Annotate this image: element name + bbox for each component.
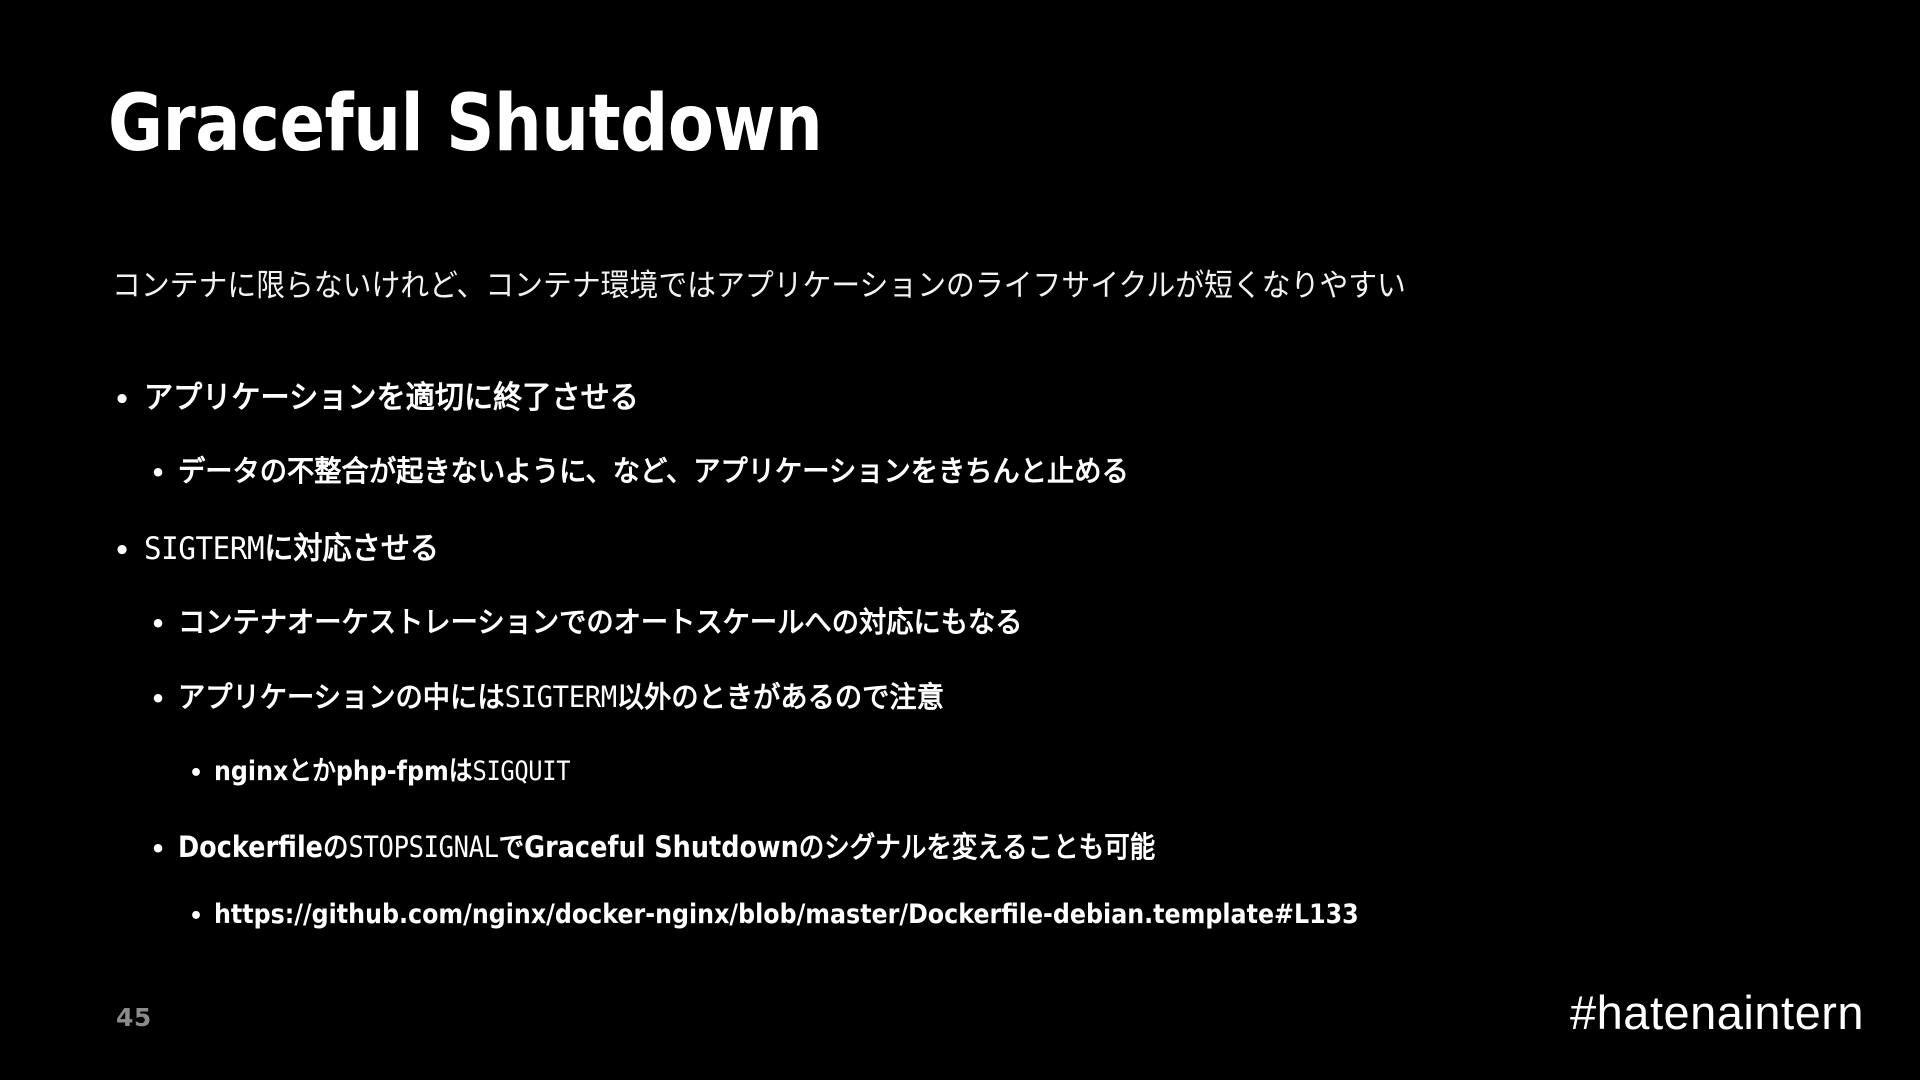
text-span: https://github.com/nginx/docker-nginx/bl…: [214, 899, 1359, 930]
text-span: に対応させる: [264, 531, 439, 567]
text-span: Dockerfileの: [178, 830, 349, 864]
slide: Graceful Shutdown コンテナに限らないけれど、コンテナ環境ではア…: [0, 0, 1920, 1080]
text-span: アプリケーションを適切に終了させる: [144, 380, 639, 416]
bullet-marker-icon: •: [100, 536, 144, 566]
bullet-text: https://github.com/nginx/docker-nginx/bl…: [214, 899, 1359, 930]
bullet-text: コンテナオーケストレーションでのオートスケールへの対応にもなる: [178, 599, 1023, 641]
bullet-item: •nginxとかphp-fpmはSIGQUIT: [0, 749, 1920, 824]
bullet-list: •アプリケーションを適切に終了させる•データの不整合が起きないように、など、アプ…: [0, 372, 1920, 974]
bullet-text: アプリケーションを適切に終了させる: [144, 372, 639, 417]
page-number: 45: [116, 1003, 152, 1032]
bullet-item: •https://github.com/nginx/docker-nginx/b…: [0, 899, 1920, 974]
text-span: 以外のときがあるので注意: [617, 680, 944, 714]
bullet-text: アプリケーションの中にはSIGTERM以外のときがあるので注意: [178, 674, 944, 716]
bullet-item: •DockerfileのSTOPSIGNALでGraceful Shutdown…: [0, 824, 1920, 899]
bullet-marker-icon: •: [178, 904, 214, 929]
bullet-item: •アプリケーションの中にはSIGTERM以外のときがあるので注意: [0, 674, 1920, 749]
bullet-text: DockerfileのSTOPSIGNALでGraceful Shutdownの…: [178, 824, 1155, 866]
text-span: コンテナオーケストレーションでのオートスケールへの対応にもなる: [178, 605, 1023, 639]
bullet-marker-icon: •: [138, 835, 178, 863]
code-span: STOPSIGNAL: [349, 830, 499, 864]
bullet-item: •データの不整合が起きないように、など、アプリケーションをきちんと止める: [0, 448, 1920, 523]
code-span: SIGTERM: [505, 680, 617, 714]
bullet-text: nginxとかphp-fpmはSIGQUIT: [214, 749, 570, 788]
bullet-marker-icon: •: [138, 459, 178, 487]
code-span: SIGTERM: [144, 531, 264, 567]
lead-paragraph: コンテナに限らないけれど、コンテナ環境ではアプリケーションのライフサイクルが短く…: [112, 268, 1406, 305]
text-span: アプリケーションの中には: [178, 680, 505, 714]
text-span: データの不整合が起きないように、など、アプリケーションをきちんと止める: [178, 454, 1129, 488]
bullet-text: SIGTERMに対応させる: [144, 523, 439, 568]
bullet-item: •SIGTERMに対応させる: [0, 523, 1920, 599]
text-span: nginxとかphp-fpmは: [214, 756, 472, 787]
bullet-marker-icon: •: [100, 385, 144, 415]
bullet-marker-icon: •: [178, 761, 214, 786]
bullet-text: データの不整合が起きないように、など、アプリケーションをきちんと止める: [178, 448, 1129, 490]
event-hashtag: #hatenaintern: [1570, 985, 1864, 1040]
bullet-marker-icon: •: [138, 685, 178, 713]
bullet-item: •アプリケーションを適切に終了させる: [0, 372, 1920, 448]
code-span: SIGQUIT: [472, 756, 570, 787]
page-title: Graceful Shutdown: [108, 82, 822, 166]
bullet-item: •コンテナオーケストレーションでのオートスケールへの対応にもなる: [0, 599, 1920, 674]
text-span: でGraceful Shutdownのシグナルを変えることも可能: [499, 830, 1156, 864]
bullet-marker-icon: •: [138, 610, 178, 638]
